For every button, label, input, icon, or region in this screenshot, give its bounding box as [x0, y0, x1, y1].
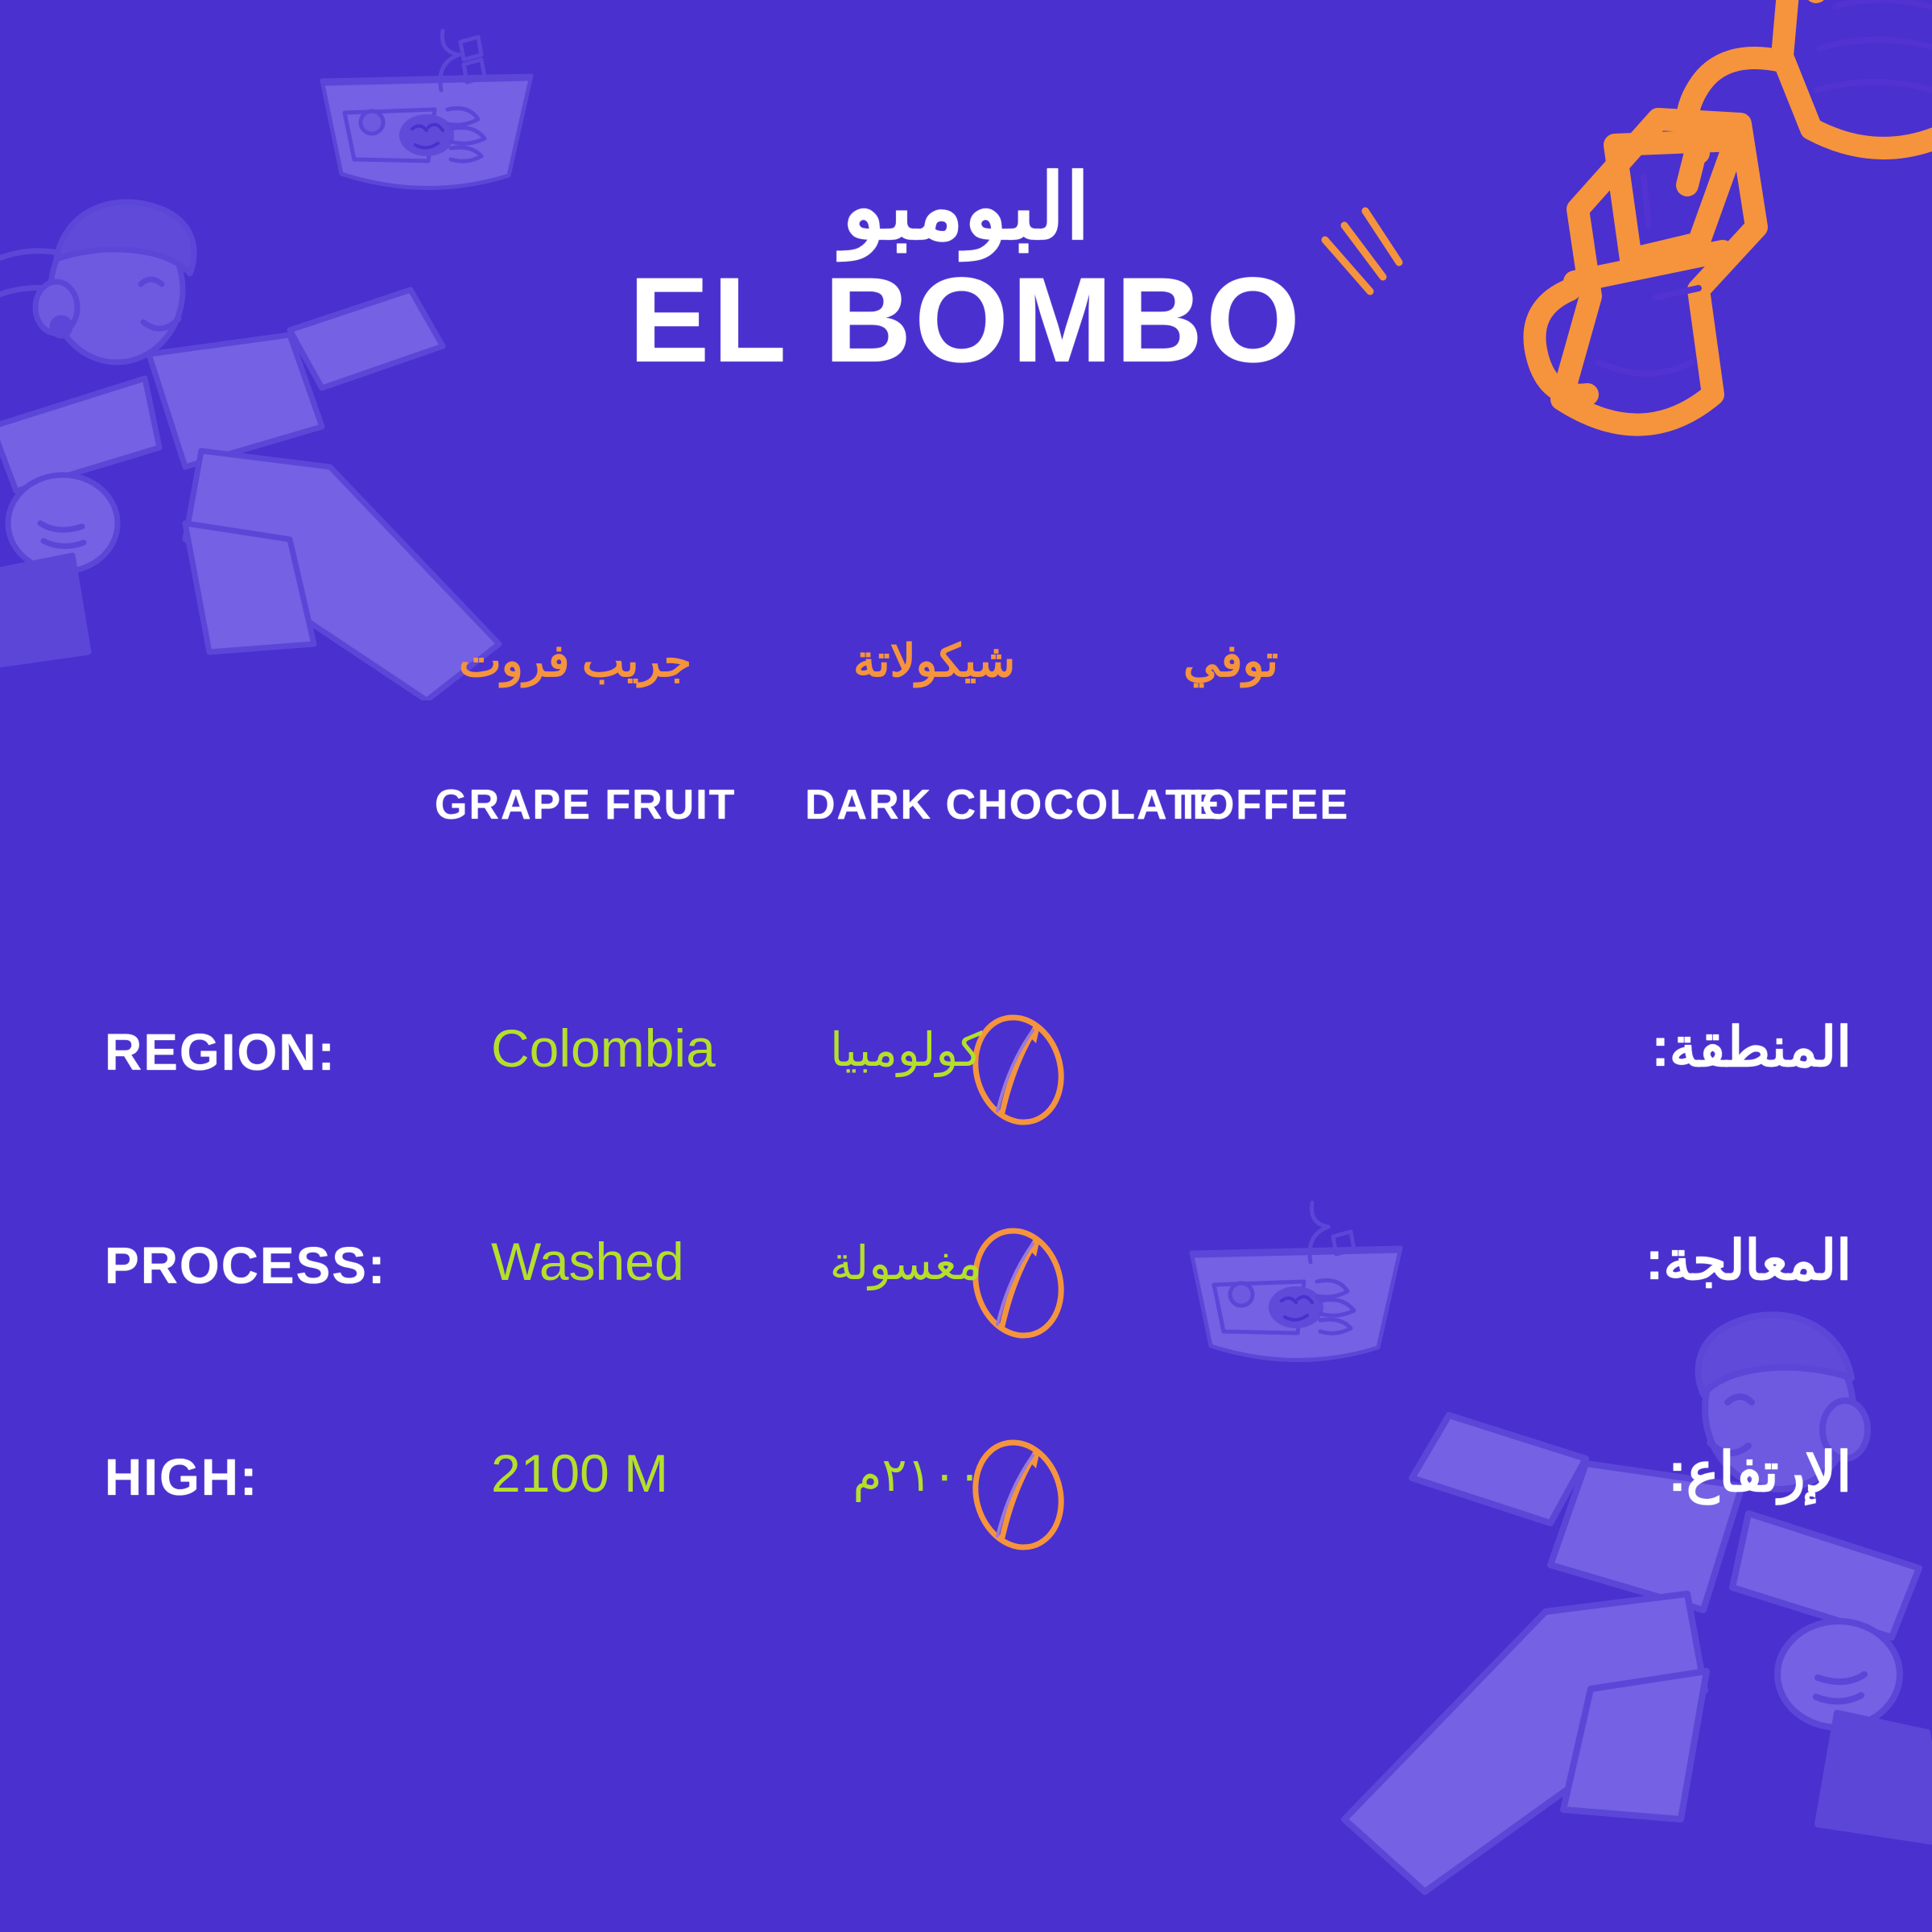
- spec-label-arabic: الإرتفاع:: [1668, 1441, 1851, 1505]
- spec-label-english: REGION:: [105, 1022, 336, 1082]
- tasting-note-item: شيكولاتة DARK CHOCOLATE: [805, 636, 1015, 686]
- tasting-note-english: DARK CHOCOLATE: [805, 781, 1222, 829]
- tasting-note-english: GRAPE FRUIT: [435, 781, 736, 829]
- tasting-notes-row: جريب فروت GRAPE FRUIT شيكولاتة DARK CHOC…: [427, 636, 1377, 877]
- tasting-note-arabic: توفي: [1183, 636, 1278, 686]
- poster-canvas: البومبو EL BOMBO جريب فروت GRAPE FRUIT ش…: [0, 0, 1932, 1932]
- spec-label-english: HIGH:: [105, 1447, 258, 1507]
- spec-label-arabic: المنطقة:: [1651, 1016, 1851, 1080]
- spec-value-arabic: ٢١٠٠م: [852, 1447, 982, 1502]
- spec-value-english: Washed: [491, 1231, 684, 1292]
- spec-label-english: PROCESS:: [105, 1236, 386, 1295]
- spec-value-english: 2100 M: [491, 1443, 668, 1504]
- spec-table: REGION: Colombia كولومبيا المنطقة: PROCE…: [0, 1022, 1932, 1554]
- title-english: EL BOMBO: [0, 259, 1932, 380]
- spec-value-arabic: مغسولة: [829, 1236, 982, 1290]
- spec-row: PROCESS: Washed مغسولة المعالجة:: [0, 1236, 1932, 1348]
- tasting-note-item: توفي TOFFEE: [1175, 636, 1278, 686]
- tasting-note-arabic: شيكولاتة: [853, 636, 1015, 686]
- tasting-note-english: TOFFEE: [1175, 781, 1349, 829]
- spec-value-arabic: كولومبيا: [830, 1022, 982, 1077]
- spec-row: REGION: Colombia كولومبيا المنطقة:: [0, 1022, 1932, 1135]
- page-title: البومبو EL BOMBO: [0, 161, 1932, 380]
- tasting-note-item: جريب فروت GRAPE FRUIT: [435, 636, 691, 686]
- spec-row: HIGH: 2100 M ٢١٠٠م الإرتفاع:: [0, 1447, 1932, 1560]
- spec-value-english: Colombia: [491, 1018, 716, 1079]
- spec-label-arabic: المعالجة:: [1645, 1229, 1851, 1293]
- tasting-note-arabic: جريب فروت: [459, 636, 691, 686]
- title-arabic: البومبو: [0, 161, 1932, 254]
